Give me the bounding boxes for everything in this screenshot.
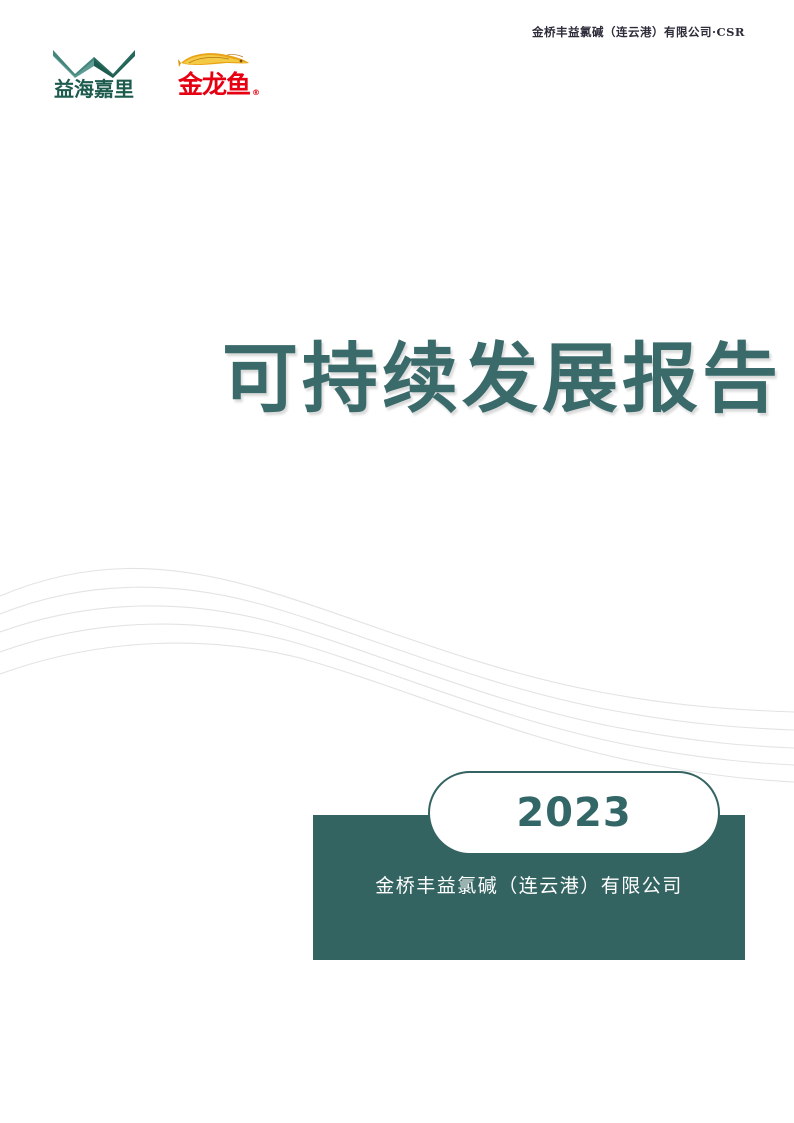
logo-arowana: 金龙鱼 ® [168, 50, 260, 100]
registered-mark-icon: ® [252, 89, 259, 97]
chevron-mark-icon [51, 48, 137, 78]
page-title: 可持续发展报告 [222, 336, 782, 421]
report-cover-page: 金桥丰益氯碱（连云港）有限公司·CSR 益海嘉里 [0, 0, 794, 1123]
logo-arowana-text: 金龙鱼 ® [178, 72, 250, 98]
logo-arowana-label: 金龙鱼 [178, 70, 250, 99]
decorative-waves [0, 540, 794, 800]
logo-yihai-kerry: 益海嘉里 [38, 48, 150, 100]
logo-yihai-kerry-text: 益海嘉里 [54, 79, 134, 100]
logo-bar: 益海嘉里 金龙鱼 ® [38, 48, 260, 100]
arowana-fish-icon [177, 50, 251, 72]
year-badge: 2023 [428, 771, 720, 855]
year-label: 2023 [516, 790, 631, 836]
header-company-note: 金桥丰益氯碱（连云港）有限公司·CSR [532, 24, 745, 40]
